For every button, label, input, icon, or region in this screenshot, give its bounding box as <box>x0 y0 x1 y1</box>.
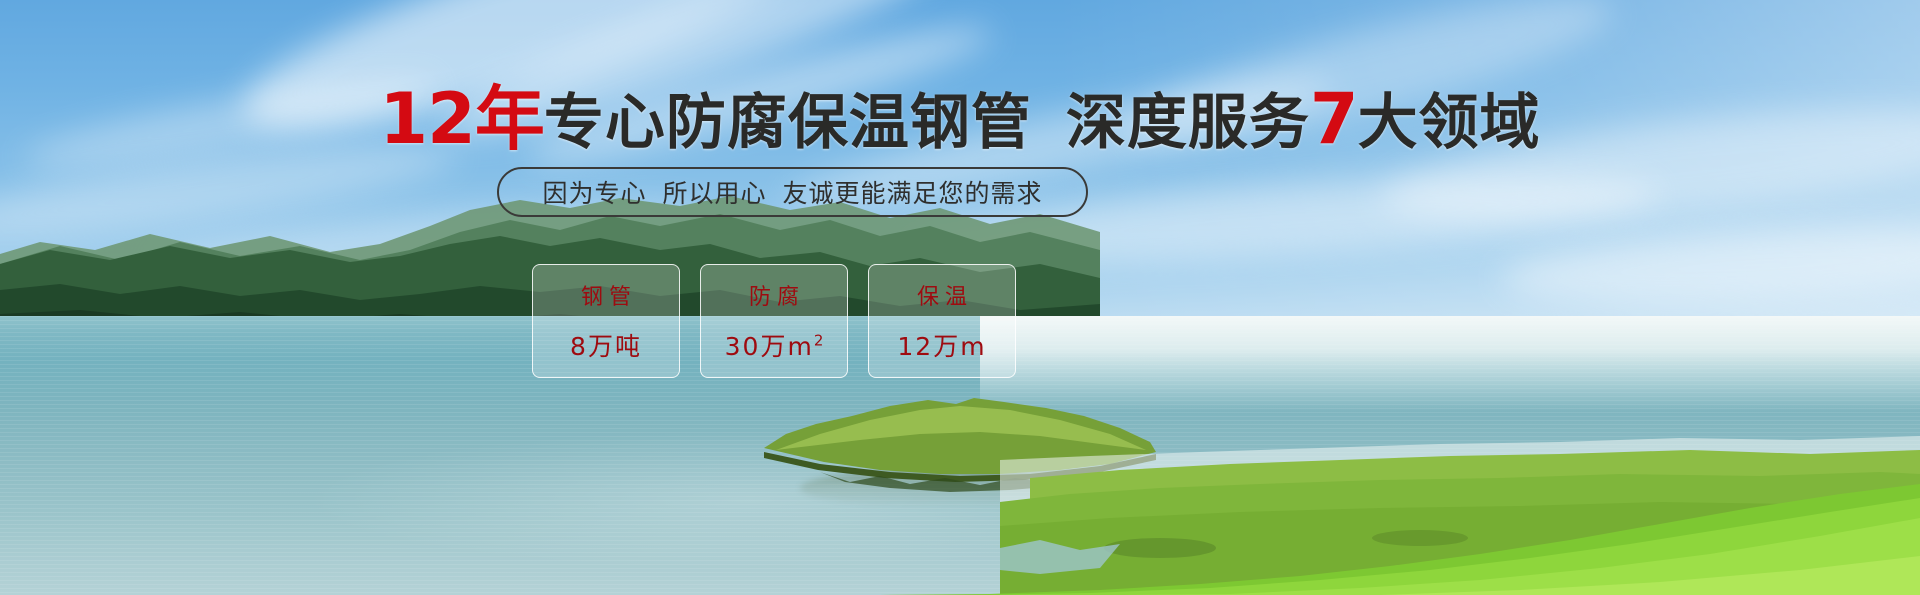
stat-card-value: 8万吨 <box>570 327 642 363</box>
stat-card-value: 30万m2 <box>725 327 824 363</box>
stat-card-label: 保温 <box>911 279 973 311</box>
subtitle-pill: 因为专心所以用心友诚更能满足您的需求 <box>497 167 1088 217</box>
stat-card-insulation: 保温 12万m <box>868 264 1016 378</box>
stat-card-value-text: 8万吨 <box>570 332 642 361</box>
subtitle-text: 因为专心所以用心友诚更能满足您的需求 <box>542 174 1042 210</box>
headline-service-text: 深度服务 <box>1066 88 1310 158</box>
stat-card-value-text: 12万m <box>897 332 986 361</box>
headline-years-unit: 年 <box>475 78 544 160</box>
headline-fields-text: 大领域 <box>1358 88 1541 158</box>
stat-card-anticorrosion: 防腐 30万m2 <box>700 264 848 378</box>
hero-banner: 12年专心防腐保温钢管深度服务7大领域 因为专心所以用心友诚更能满足您的需求 钢… <box>0 0 1920 595</box>
subtitle-part-2: 所以用心 <box>662 179 766 208</box>
headline-fields-number: 7 <box>1310 78 1358 160</box>
stat-card-label: 钢管 <box>575 279 637 311</box>
page-title: 12年专心防腐保温钢管深度服务7大领域 <box>0 84 1920 154</box>
subtitle-part-3: 友诚更能满足您的需求 <box>783 179 1043 208</box>
stat-card-label: 防腐 <box>743 279 805 311</box>
headline-lead-text: 专心防腐保温钢管 <box>544 88 1032 158</box>
stat-card-value-superscript: 2 <box>814 332 824 350</box>
stat-card-value: 12万m <box>897 327 986 363</box>
headline-years-number: 12 <box>379 78 474 160</box>
stat-card-value-text: 30万m <box>725 332 814 361</box>
subtitle-part-1: 因为专心 <box>542 179 646 208</box>
foreground-grass <box>760 470 1920 595</box>
stat-card-steel-pipe: 钢管 8万吨 <box>532 264 680 378</box>
stat-card-list: 钢管 8万吨 防腐 30万m2 保温 12万m <box>532 264 1016 378</box>
